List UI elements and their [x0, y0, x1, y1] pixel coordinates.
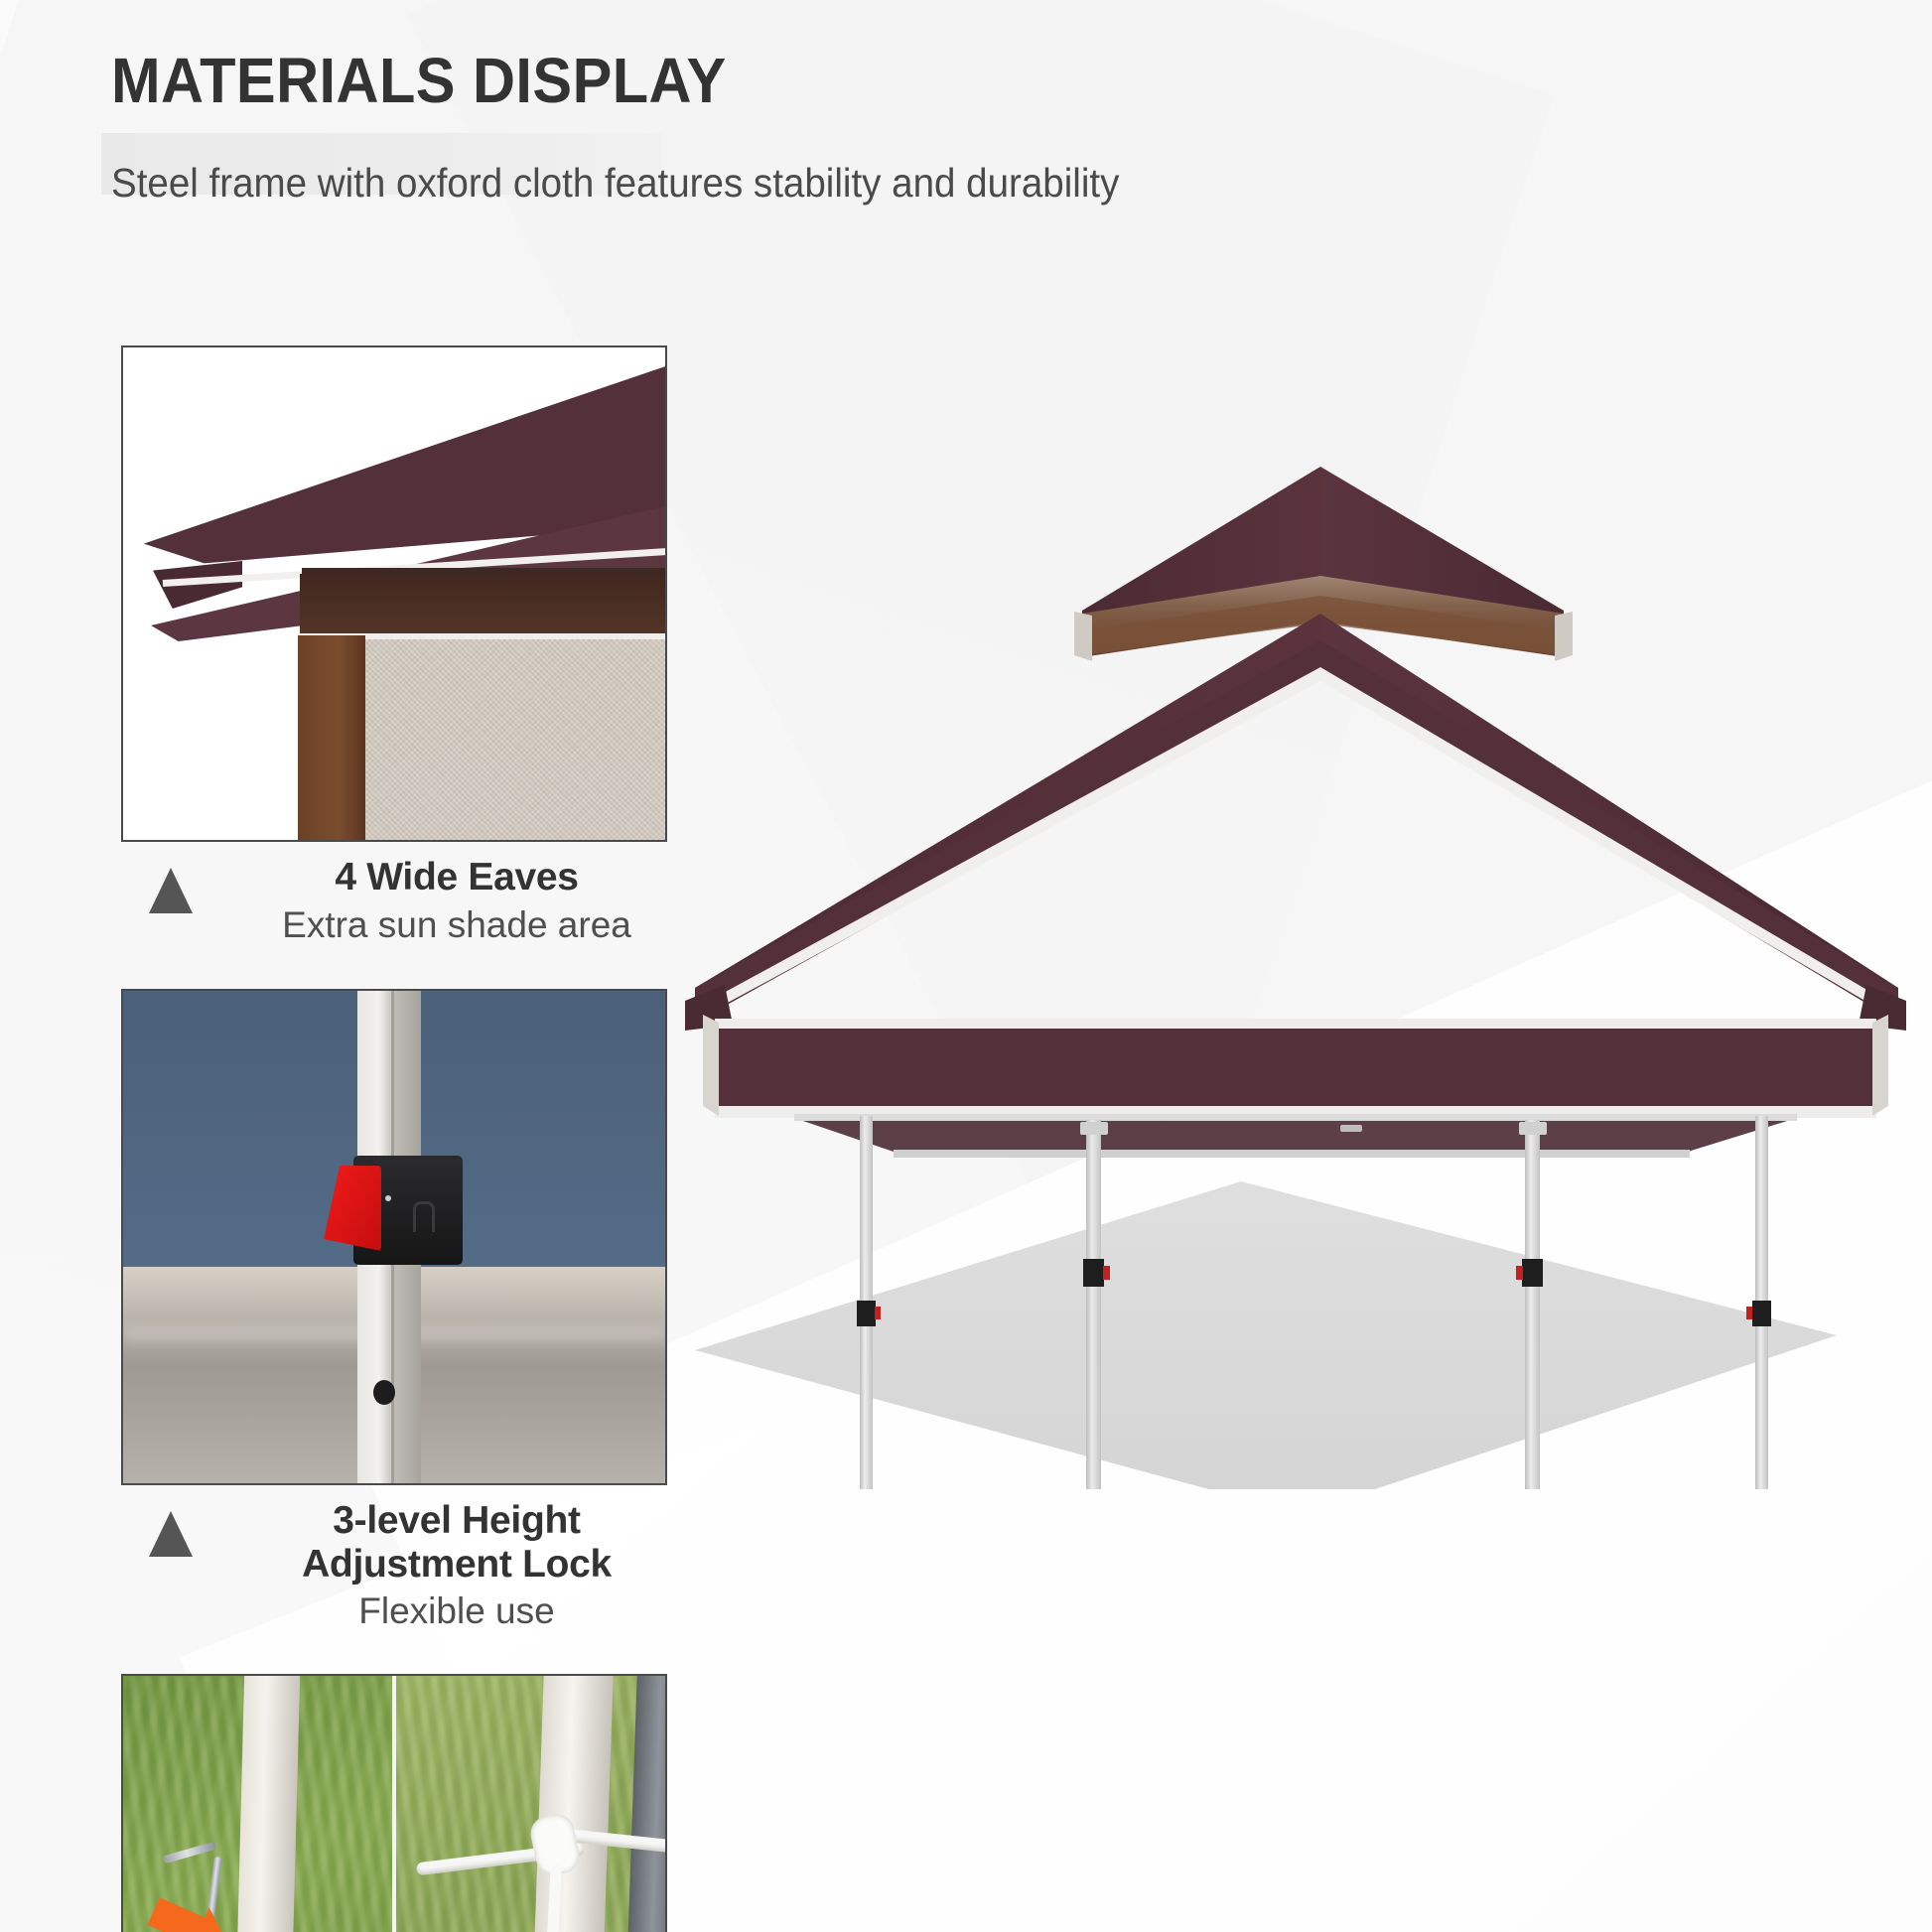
- feature-subtitle: Flexible use: [199, 1589, 715, 1633]
- side-panel-fabric: [365, 639, 667, 842]
- leg-front-right-lock-lever: [1516, 1266, 1523, 1280]
- photo-split-divider: [392, 1676, 396, 1932]
- photo-enhanced-stability: [121, 1674, 667, 1932]
- vent-cap-left: [1074, 612, 1092, 661]
- leg-rear-left-lock-lever: [875, 1307, 881, 1319]
- leg-rear-left-lock: [857, 1301, 876, 1326]
- valance-band-inner: [300, 574, 667, 635]
- feature-item-enhanced-stability: Enhanced Stability Ground nails and rope…: [121, 1674, 677, 1932]
- feature-list: 4 Wide Eaves Extra sun shade area 3-leve…: [121, 345, 677, 1932]
- canopy-underside: [794, 1118, 1797, 1152]
- leg-front-left: [1086, 1120, 1101, 1489]
- photo-wide-eaves: [121, 345, 667, 842]
- page-subtitle: Steel frame with oxford cloth features s…: [111, 160, 1698, 207]
- feature-title: 4 Wide Eaves: [199, 856, 715, 899]
- truss-bracket-left: [1080, 1122, 1108, 1135]
- leg-rear-right-lock-lever: [1746, 1307, 1752, 1319]
- triangle-bullet-icon: [149, 1511, 193, 1557]
- frame-rail-front: [794, 1114, 1797, 1121]
- poster-canvas: MATERIALS DISPLAY Steel frame with oxfor…: [0, 0, 1932, 1932]
- photo-left-half-ground-nail: [123, 1676, 394, 1932]
- feature-item-height-lock: 3-level Height Adjustment Lock Flexible …: [121, 989, 677, 1634]
- lock-slot-icon: [413, 1201, 435, 1232]
- grass-texture: [394, 1676, 665, 1932]
- feature-subtitle: Extra sun shade area: [199, 903, 715, 947]
- leg-front-left-lock-lever: [1103, 1266, 1110, 1280]
- canopy-main-roof-front: [695, 640, 1898, 1023]
- frame-rail-rear: [894, 1150, 1690, 1158]
- valance-left-return: [703, 1015, 719, 1116]
- pole-adjustment-hole: [373, 1380, 395, 1405]
- photo-height-lock: [121, 989, 667, 1485]
- vent-cap-right: [1555, 612, 1573, 661]
- steel-pole: [236, 1676, 301, 1932]
- leg-front-right: [1525, 1120, 1540, 1489]
- feature-title-line2: Adjustment Lock: [199, 1543, 715, 1587]
- feature-title-line1: 3-level Height: [199, 1499, 715, 1543]
- truss-bracket-mid: [1340, 1125, 1362, 1132]
- gazebo-svg: [685, 427, 1906, 1489]
- triangle-bullet-icon: [149, 868, 193, 913]
- caption-height-lock: 3-level Height Adjustment Lock Flexible …: [121, 1499, 715, 1634]
- valance-band: [715, 1023, 1876, 1112]
- title-wrap: MATERIALS DISPLAY: [111, 48, 772, 114]
- product-illustration: [685, 427, 1906, 1489]
- truss-bracket-right: [1519, 1122, 1547, 1135]
- feature-item-wide-eaves: 4 Wide Eaves Extra sun shade area: [121, 345, 677, 947]
- page-title: MATERIALS DISPLAY: [111, 48, 727, 114]
- leg-front-left-lock: [1083, 1259, 1104, 1287]
- corner-post-fabric: [298, 635, 365, 842]
- valance-right-return: [1872, 1015, 1888, 1116]
- photo-right-half-rope: [394, 1676, 665, 1932]
- caption-wide-eaves: 4 Wide Eaves Extra sun shade area: [121, 856, 715, 947]
- valance-piping-top: [715, 1019, 1876, 1029]
- leg-rear-right-lock: [1752, 1301, 1771, 1326]
- leg-front-right-lock: [1522, 1259, 1543, 1287]
- header: MATERIALS DISPLAY Steel frame with oxfor…: [111, 48, 1799, 207]
- eave-piping: [691, 667, 1902, 1023]
